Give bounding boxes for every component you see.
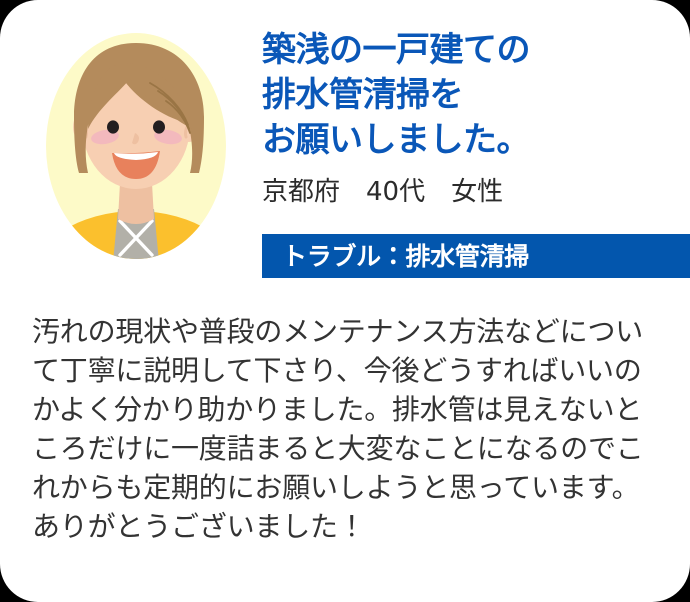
avatar: [46, 33, 226, 259]
headline-block: 築浅の一戸建ての 排水管清掃を お願いしました。 京都府 40代 女性: [262, 28, 690, 209]
page-title: 築浅の一戸建ての 排水管清掃を お願いしました。: [262, 28, 690, 163]
customer-attributes: 京都府 40代 女性: [262, 163, 690, 209]
status-badge-label: トラブル：排水管清掃: [262, 244, 529, 269]
neck-shape: [118, 183, 154, 224]
card-header-region: 築浅の一戸建ての 排水管清掃を お願いしました。 京都府 40代 女性 トラブル…: [0, 0, 690, 290]
testimonial-body: 汚れの現状や普段のメンテナンス方法などについて丁寧に説明して下さり、今後どうすれ…: [32, 312, 660, 546]
eye-right: [153, 120, 165, 133]
status-badge: トラブル：排水管清掃: [262, 234, 690, 278]
eye-left: [107, 120, 119, 133]
customer-voice-card: 築浅の一戸建ての 排水管清掃を お願いしました。 京都府 40代 女性 トラブル…: [0, 0, 690, 602]
